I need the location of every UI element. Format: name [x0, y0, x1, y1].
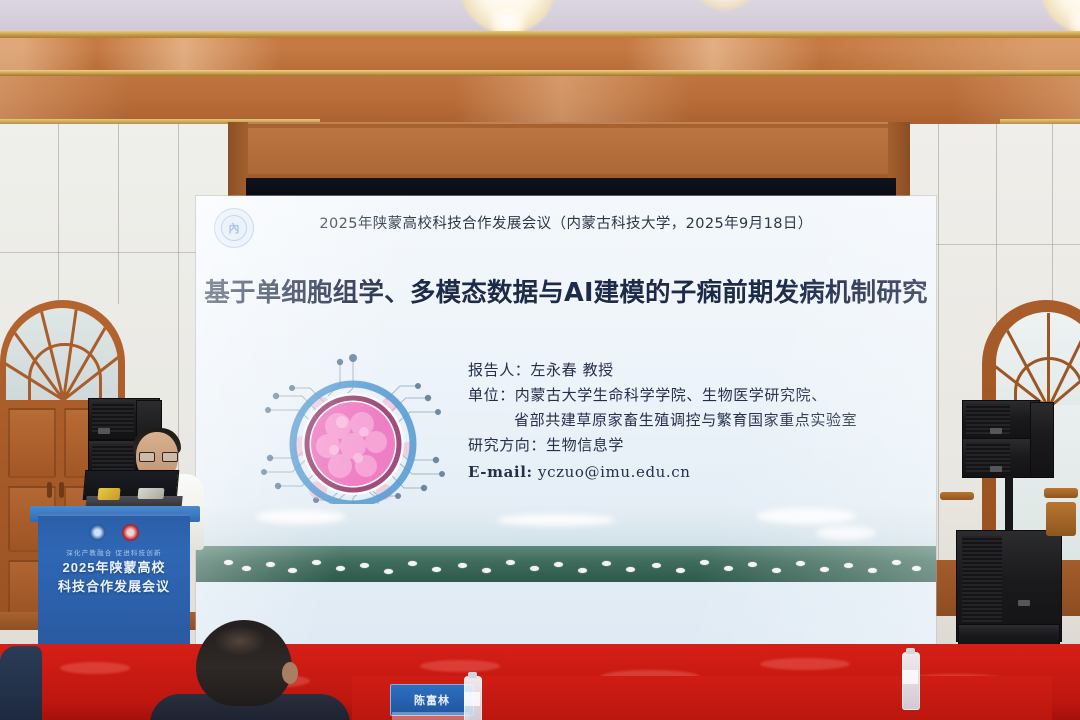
podium-logo-row [38, 524, 190, 541]
table-nameplate-text: 陈富林 [414, 692, 450, 708]
podium-emblem-blue-icon [89, 524, 106, 541]
bottle-label [902, 670, 918, 684]
stage-chair [940, 492, 974, 500]
gold-trim [0, 31, 1080, 38]
email-label: E-mail: [468, 463, 533, 481]
stage-chair [1044, 488, 1078, 498]
slide-title: 基于单细胞组学、多模态数据与AI建模的子痫前期发病机制研究 [196, 272, 936, 309]
speaker-right-wing [1030, 402, 1054, 478]
speaker-grill [966, 404, 1010, 434]
nameplate-stand [392, 712, 470, 720]
speaker-line: 报告人：左永春 教授 [468, 358, 918, 383]
wood-beam-lower [0, 76, 1080, 124]
door-handle[interactable] [59, 482, 64, 498]
laptop-sticker [97, 488, 120, 500]
slide-header-text: 2025年陕蒙高校科技合作发展会议（内蒙古科技大学，2025年9月18日） [196, 212, 936, 233]
research-line: 研究方向：生物信息学 [468, 433, 918, 458]
conference-photo-scene: 內 2025年陕蒙高校科技合作发展会议（内蒙古科技大学，2025年9月18日） … [0, 0, 1080, 720]
email-line: E-mail: yczuo@imu.edu.cn [468, 460, 918, 485]
stage-valance-inner [240, 128, 898, 174]
bottle-cap [468, 672, 477, 678]
speaker-grill [966, 442, 1010, 472]
slide-info-block: 报告人：左永春 教授 单位：内蒙古大学生命科学学院、生物医学研究院、 省部共建草… [468, 358, 918, 485]
podium-emblem-red-icon [122, 524, 139, 541]
subwoofer-grill [962, 536, 1002, 632]
slide-grassland-band [196, 546, 936, 582]
speaker-badge [990, 428, 1002, 434]
speaker-badge [98, 428, 110, 434]
speaker-badge [990, 466, 1002, 472]
wood-beam-upper [0, 38, 1080, 72]
bottle-cap [906, 648, 915, 654]
door-panel [8, 408, 56, 478]
podium-title-line-2: 科技合作发展会议 [38, 577, 190, 596]
stage-valance-edge [228, 122, 248, 200]
stage-shadow-gap [246, 178, 896, 198]
bottle-label [464, 692, 480, 706]
audience-ear [282, 662, 298, 684]
stage-chair [1046, 502, 1076, 536]
slide-sky-band [196, 504, 936, 548]
speaker-pole [1005, 476, 1013, 534]
affiliation-line-1: 单位：内蒙古大学生命科学学院、生物医学研究院、 [468, 383, 918, 408]
podium-title: 2025年陕蒙高校 科技合作发展会议 [38, 558, 190, 596]
projection-screen: 內 2025年陕蒙高校科技合作发展会议（内蒙古科技大学，2025年9月18日） … [196, 196, 936, 644]
door-handle[interactable] [47, 482, 52, 498]
laptop-sticker [138, 488, 165, 499]
podium-title-line-1: 2025年陕蒙高校 [38, 558, 190, 577]
audience-member-partial-left [0, 646, 42, 720]
audience-scalp-highlight [214, 626, 266, 656]
presenter-glasses [139, 452, 176, 460]
email-value: yczuo@imu.edu.cn [538, 463, 691, 481]
podium-slogan: 深化产教融合 促进科技创新 [38, 547, 190, 557]
affiliation-line-2: 省部共建草原家畜生殖调控与繁育国家重点实验室 [468, 408, 918, 433]
speaker-badge [1018, 600, 1030, 606]
